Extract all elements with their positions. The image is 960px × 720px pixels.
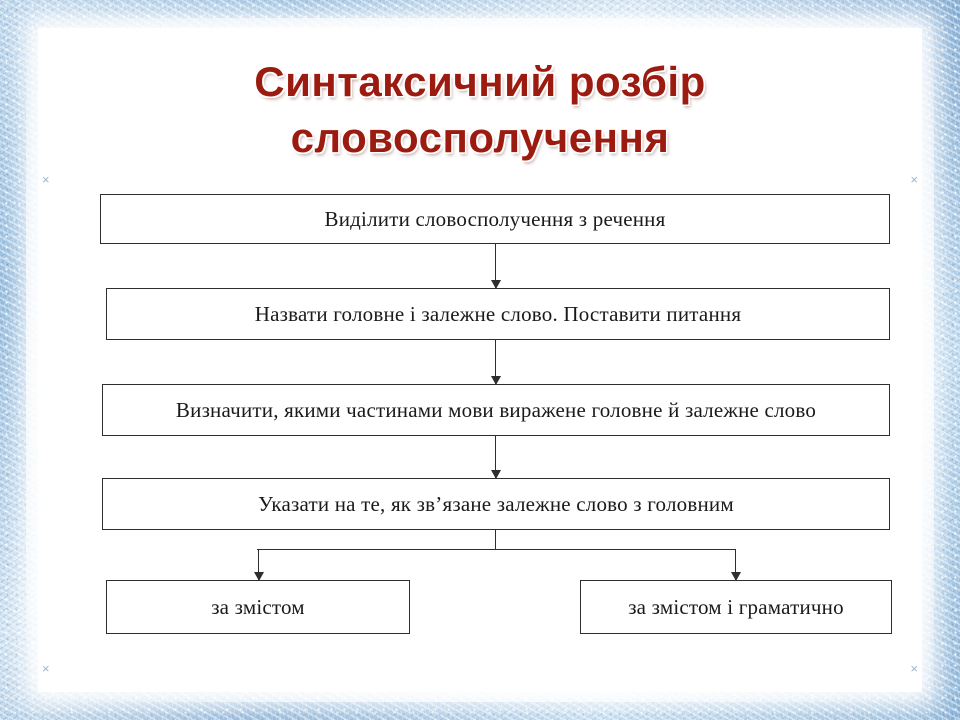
arrow-down-icon-1 bbox=[495, 244, 496, 288]
corner-mark-bottom-left: × bbox=[42, 661, 50, 676]
page-title: Синтаксичний розбір словосполучення bbox=[0, 54, 960, 167]
flow-split-stem bbox=[495, 530, 496, 550]
flow-step-3: Визначити, якими частинами мови виражене… bbox=[102, 384, 890, 436]
flow-outcome-right: за змістом і граматично bbox=[580, 580, 892, 634]
flow-step-1: Виділити словосполучення з речення bbox=[100, 194, 890, 244]
corner-mark-top-right: × bbox=[910, 172, 918, 187]
slide: Синтаксичний розбір словосполучення Виді… bbox=[0, 0, 960, 720]
arrow-down-icon-4-left bbox=[258, 549, 259, 580]
flow-step-2: Назвати головне і залежне слово. Постави… bbox=[106, 288, 890, 340]
page-title-line-1: Синтаксичний розбір bbox=[0, 54, 960, 110]
corner-mark-bottom-right: × bbox=[910, 661, 918, 676]
arrow-down-icon-5-right bbox=[735, 549, 736, 580]
flow-outcome-left: за змістом bbox=[106, 580, 410, 634]
arrow-down-icon-3 bbox=[495, 436, 496, 478]
flowchart: Виділити словосполучення з речення Назва… bbox=[72, 176, 904, 662]
arrow-down-icon-2 bbox=[495, 340, 496, 384]
flow-split-bar bbox=[257, 549, 735, 550]
corner-mark-top-left: × bbox=[42, 172, 50, 187]
page-title-line-2: словосполучення bbox=[0, 110, 960, 166]
flow-step-4: Указати на те, як зв’язане залежне слово… bbox=[102, 478, 890, 530]
